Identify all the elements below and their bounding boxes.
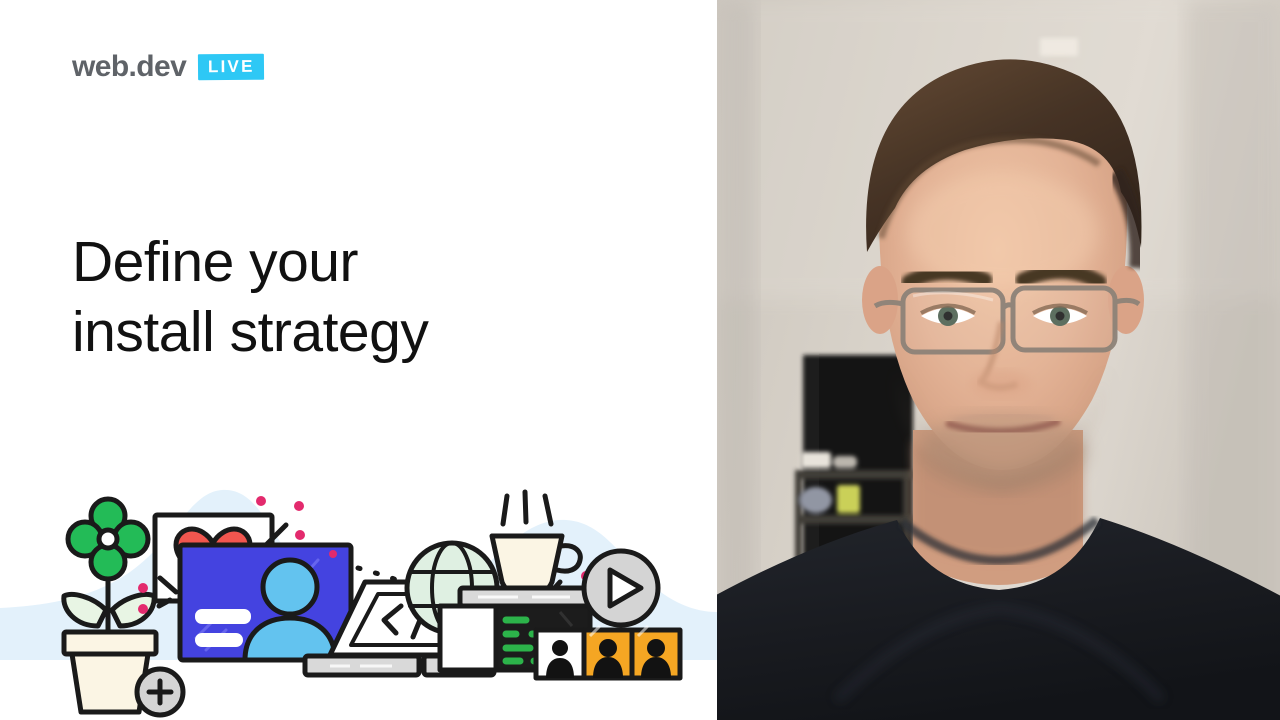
person-video-card [180,545,351,660]
presentation-screen: web.dev LIVE Define your install strateg… [0,0,1280,720]
web-dev-live-logo: web.dev LIVE [72,52,264,82]
web-dev-wordmark: web.dev [72,52,186,82]
participant-tiles [536,626,680,678]
slide-headline: Define your install strategy [72,228,632,367]
play-button-circle [584,551,658,625]
presenter-webcam-feed [717,0,1280,720]
slide-illustration: .ink { fill:none; stroke:#1a1a1a; stroke… [0,460,717,720]
slide-panel: web.dev LIVE Define your install strateg… [0,0,717,720]
live-badge: LIVE [198,54,264,81]
